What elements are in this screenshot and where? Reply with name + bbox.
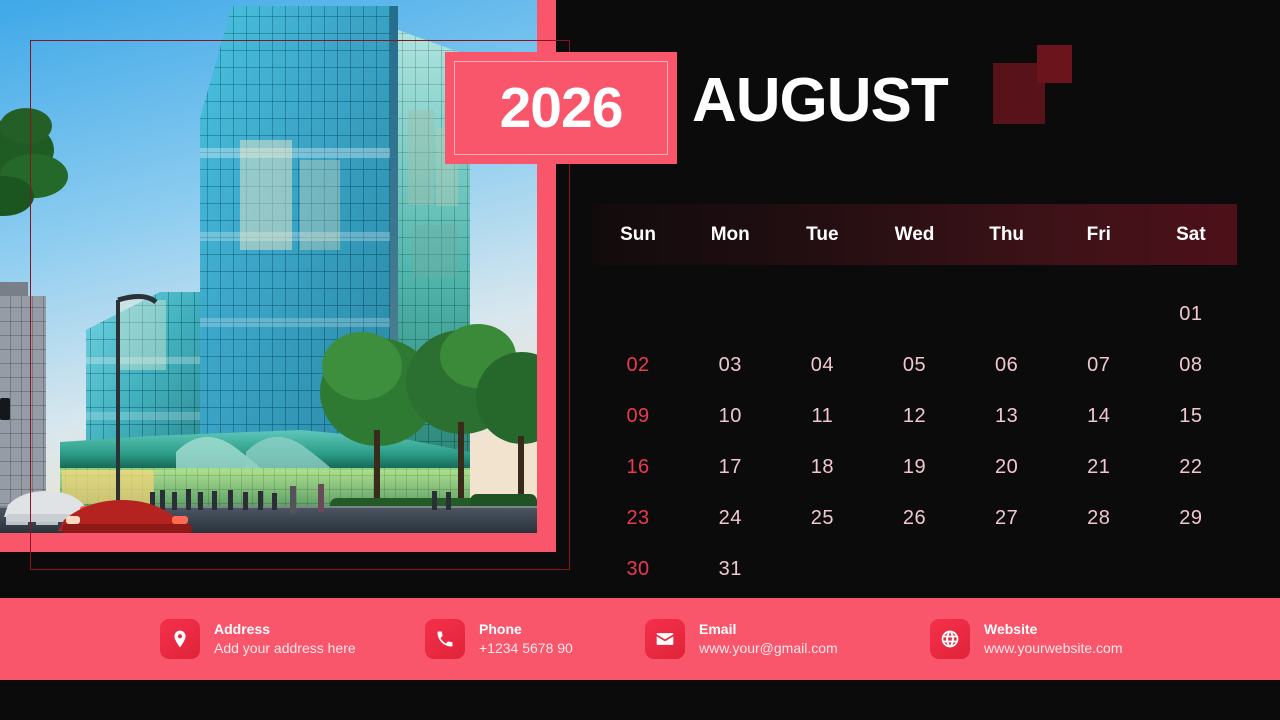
contact-website[interactable]: Websitewww.yourwebsite.com [930, 619, 1170, 659]
contact-text: AddressAdd your address here [214, 620, 356, 658]
location-pin-icon [160, 619, 200, 659]
date-cell-31[interactable]: 31 [684, 544, 776, 595]
calendar-date-body: 0102030405060708091011121314151617181920… [592, 289, 1237, 595]
date-cell-18[interactable]: 18 [776, 442, 868, 493]
calendar-page: 2026 AUGUST SunMonTueWedThuFriSat 010203… [0, 0, 1280, 720]
date-cell-08[interactable]: 08 [1145, 340, 1237, 391]
contact-address[interactable]: AddressAdd your address here [160, 619, 395, 659]
calendar-weekday-header: SunMonTueWedThuFriSat [592, 204, 1237, 265]
date-cell-28[interactable]: 28 [1053, 493, 1145, 544]
date-cell-15[interactable]: 15 [1145, 391, 1237, 442]
weekday-header-mon: Mon [684, 224, 776, 246]
date-cell-22[interactable]: 22 [1145, 442, 1237, 493]
contact-label: Phone [479, 620, 573, 639]
weekday-header-wed: Wed [868, 224, 960, 246]
date-cell-13[interactable]: 13 [961, 391, 1053, 442]
date-cell-30[interactable]: 30 [592, 544, 684, 595]
weekday-header-fri: Fri [1053, 224, 1145, 246]
weekday-header-thu: Thu [961, 224, 1053, 246]
contact-footer: AddressAdd your address herePhone+1234 5… [0, 598, 1280, 680]
contact-value: www.your@gmail.com [699, 639, 838, 659]
contact-text: Phone+1234 5678 90 [479, 620, 573, 658]
contact-value: Add your address here [214, 639, 356, 659]
calendar-grid: SunMonTueWedThuFriSat 010203040506070809… [592, 204, 1237, 595]
date-cell-11[interactable]: 11 [776, 391, 868, 442]
weekday-header-sat: Sat [1145, 224, 1237, 246]
date-cell-21[interactable]: 21 [1053, 442, 1145, 493]
date-cell-04[interactable]: 04 [776, 340, 868, 391]
phone-icon [425, 619, 465, 659]
date-cell-25[interactable]: 25 [776, 493, 868, 544]
envelope-icon [645, 619, 685, 659]
date-cell-29[interactable]: 29 [1145, 493, 1237, 544]
year-badge: 2026 [445, 52, 677, 164]
bottom-strip [0, 680, 1280, 720]
date-cell-16[interactable]: 16 [592, 442, 684, 493]
date-cell-empty [868, 289, 960, 340]
date-cell-empty [1053, 289, 1145, 340]
contact-label: Email [699, 620, 838, 639]
date-cell-empty [961, 544, 1053, 595]
date-cell-20[interactable]: 20 [961, 442, 1053, 493]
contact-phone[interactable]: Phone+1234 5678 90 [425, 619, 615, 659]
contact-value: +1234 5678 90 [479, 639, 573, 659]
date-cell-03[interactable]: 03 [684, 340, 776, 391]
date-cell-26[interactable]: 26 [868, 493, 960, 544]
weekday-header-sun: Sun [592, 224, 684, 246]
date-cell-01[interactable]: 01 [1145, 289, 1237, 340]
date-cell-12[interactable]: 12 [868, 391, 960, 442]
contact-text: Websitewww.yourwebsite.com [984, 620, 1123, 658]
date-cell-27[interactable]: 27 [961, 493, 1053, 544]
weekday-header-tue: Tue [776, 224, 868, 246]
date-cell-empty [776, 289, 868, 340]
date-cell-empty [592, 289, 684, 340]
date-cell-10[interactable]: 10 [684, 391, 776, 442]
contact-email[interactable]: Emailwww.your@gmail.com [645, 619, 900, 659]
globe-icon [930, 619, 970, 659]
contact-label: Website [984, 620, 1123, 639]
year-label: 2026 [500, 80, 623, 137]
date-cell-empty [776, 544, 868, 595]
date-cell-06[interactable]: 06 [961, 340, 1053, 391]
date-cell-empty [868, 544, 960, 595]
date-cell-empty [1053, 544, 1145, 595]
date-cell-24[interactable]: 24 [684, 493, 776, 544]
date-cell-empty [1145, 544, 1237, 595]
contact-text: Emailwww.your@gmail.com [699, 620, 838, 658]
contact-list: AddressAdd your address herePhone+1234 5… [160, 598, 1280, 680]
date-cell-empty [961, 289, 1053, 340]
month-title: AUGUST [692, 70, 948, 132]
date-cell-09[interactable]: 09 [592, 391, 684, 442]
decorative-square-small [1037, 45, 1072, 83]
date-cell-07[interactable]: 07 [1053, 340, 1145, 391]
date-cell-17[interactable]: 17 [684, 442, 776, 493]
contact-label: Address [214, 620, 356, 639]
date-cell-23[interactable]: 23 [592, 493, 684, 544]
date-cell-02[interactable]: 02 [592, 340, 684, 391]
date-cell-05[interactable]: 05 [868, 340, 960, 391]
date-cell-empty [684, 289, 776, 340]
date-cell-14[interactable]: 14 [1053, 391, 1145, 442]
contact-value: www.yourwebsite.com [984, 639, 1123, 659]
date-cell-19[interactable]: 19 [868, 442, 960, 493]
